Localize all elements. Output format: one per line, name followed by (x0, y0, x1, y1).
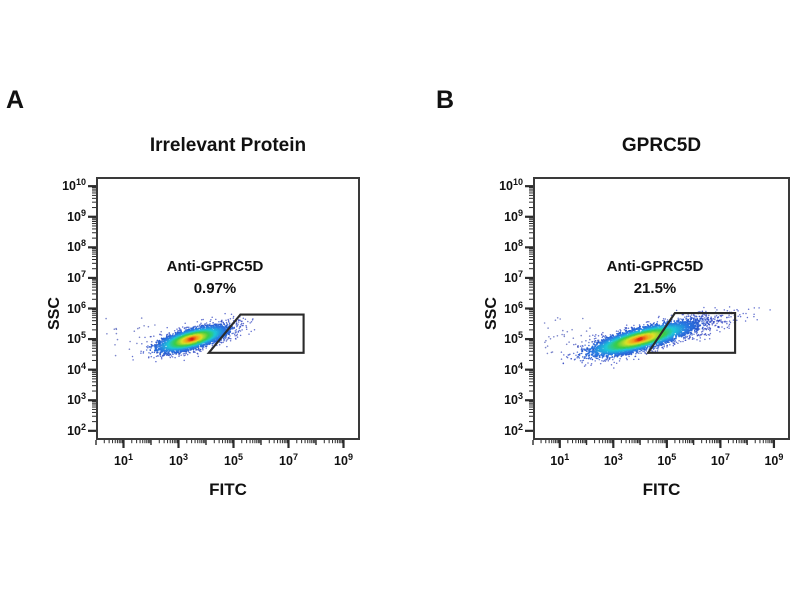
panel-letter-a: A (6, 88, 24, 113)
y-tick-label-b-1: 109 (475, 210, 523, 224)
y-tick-label-a-1: 109 (38, 210, 86, 224)
gate-percent-a: 0.97% (120, 280, 310, 297)
x-tick-label-a-0: 101 (114, 454, 133, 468)
x-tick-label-b-3: 107 (711, 454, 730, 468)
x-tick-label-b-4: 109 (764, 454, 783, 468)
y-tick-label-b-4: 106 (475, 302, 523, 316)
y-tick-label-b-7: 103 (475, 393, 523, 407)
x-tick-label-b-2: 105 (657, 454, 676, 468)
plot-area-b (533, 177, 790, 440)
x-tick-label-a-1: 103 (169, 454, 188, 468)
gate-label-a: Anti-GPRC5D (120, 258, 310, 275)
plot-title-b: GPRC5D (533, 135, 790, 157)
y-tick-label-a-8: 102 (38, 424, 86, 438)
x-axis-title-a: FITC (96, 480, 360, 500)
y-tick-label-b-3: 107 (475, 271, 523, 285)
y-tick-label-b-5: 105 (475, 332, 523, 346)
y-tick-label-b-0: 1010 (475, 179, 523, 193)
flow-cytometry-figure: A Irrelevant Protein SSC FITC Anti-GPRC5… (0, 0, 800, 600)
y-tick-label-a-5: 105 (38, 332, 86, 346)
gate-percent-b: 21.5% (560, 280, 750, 297)
y-tick-label-a-2: 108 (38, 240, 86, 254)
y-tick-label-a-6: 104 (38, 363, 86, 377)
plot-area-a (96, 177, 360, 440)
y-tick-label-b-8: 102 (475, 424, 523, 438)
y-tick-label-a-7: 103 (38, 393, 86, 407)
y-tick-label-a-4: 106 (38, 302, 86, 316)
panel-letter-b: B (436, 88, 454, 113)
x-tick-label-a-4: 109 (334, 454, 353, 468)
y-tick-label-a-3: 107 (38, 271, 86, 285)
x-axis-title-b: FITC (533, 480, 790, 500)
y-tick-label-a-0: 1010 (38, 179, 86, 193)
gate-label-b: Anti-GPRC5D (560, 258, 750, 275)
y-tick-label-b-6: 104 (475, 363, 523, 377)
x-tick-label-b-0: 101 (550, 454, 569, 468)
x-tick-label-b-1: 103 (604, 454, 623, 468)
x-tick-label-a-3: 107 (279, 454, 298, 468)
plot-title-a: Irrelevant Protein (96, 135, 360, 157)
x-tick-label-a-2: 105 (224, 454, 243, 468)
y-tick-label-b-2: 108 (475, 240, 523, 254)
